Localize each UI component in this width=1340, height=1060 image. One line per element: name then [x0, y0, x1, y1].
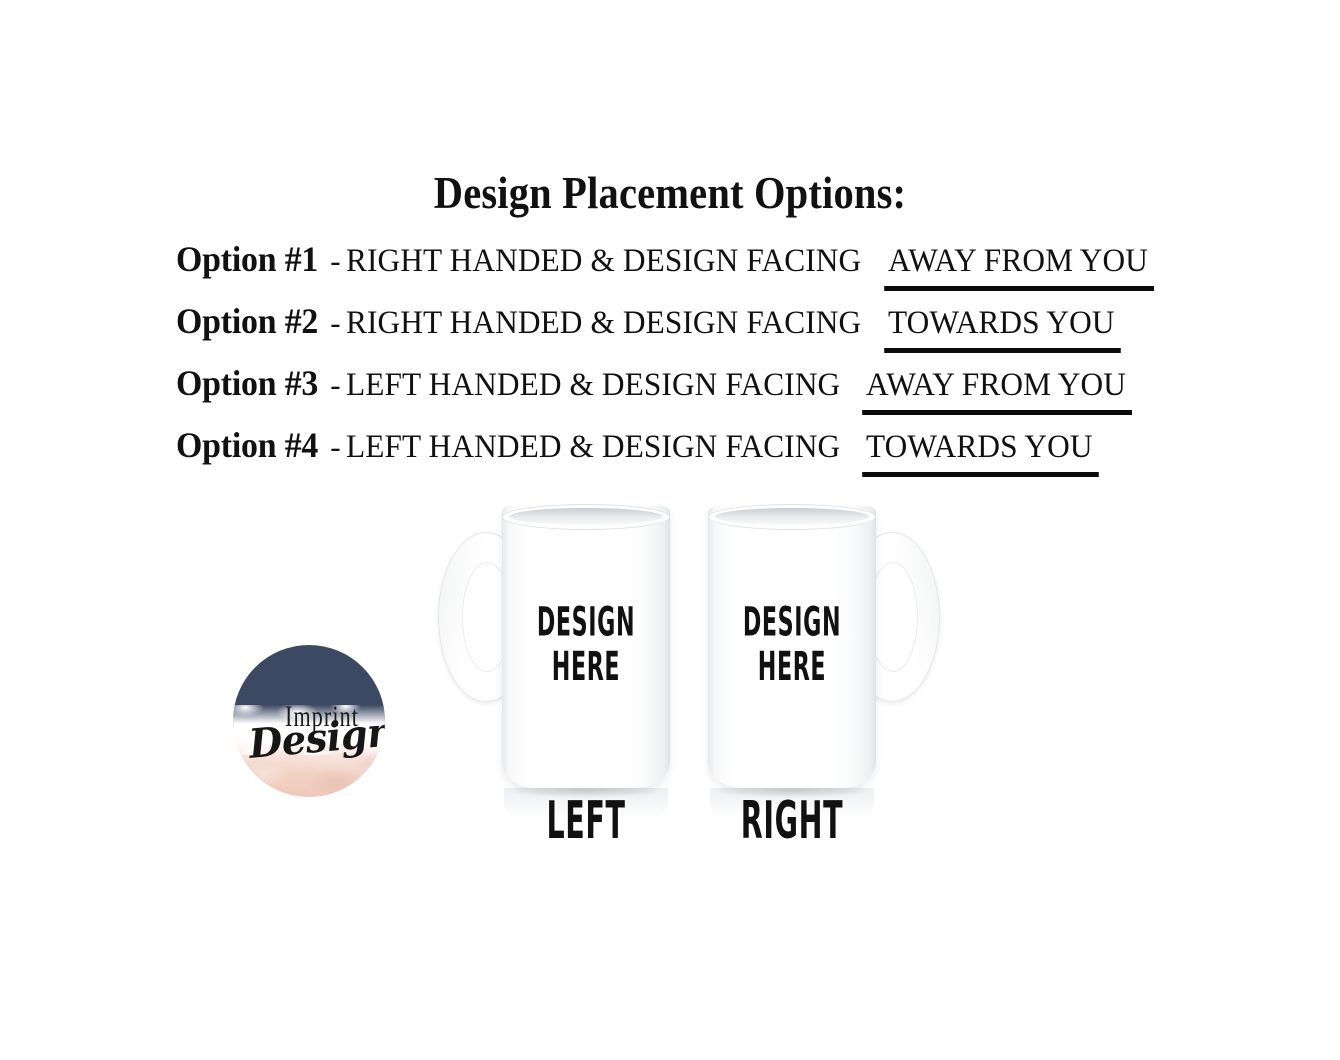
option-2-description: RIGHT HANDED & DESIGN FACING [346, 305, 861, 342]
option-1-emphasis: AWAY FROM YOU [888, 243, 1148, 282]
option-row-4: Option #4-LEFT HANDED & DESIGN FACINGTOW… [176, 424, 1176, 486]
option-1-label: Option #1 [176, 238, 318, 280]
option-1-description: RIGHT HANDED & DESIGN FACING [346, 243, 861, 280]
option-4-emphasis: TOWARDS YOU [866, 429, 1093, 468]
option-row-2: Option #2-RIGHT HANDED & DESIGN FACINGTO… [176, 300, 1176, 362]
option-2-emphasis: TOWARDS YOU [888, 305, 1115, 344]
right-mug-design-line-2: HERE [742, 644, 843, 688]
option-4-description: LEFT HANDED & DESIGN FACING [346, 429, 840, 466]
left-mug-design-text: DESIGN HERE [536, 600, 637, 689]
heading-block: Design Placement Options: [0, 168, 1340, 218]
option-3-emphasis: AWAY FROM YOU [866, 367, 1126, 406]
left-mug: DESIGN HERE LEFT [430, 496, 680, 826]
option-1-dash: - [327, 243, 345, 278]
left-mug-design-line-1: DESIGN [536, 600, 637, 644]
imprint-designs-logo: Imprint Designs [233, 645, 385, 797]
left-mug-design-line-2: HERE [536, 644, 637, 688]
option-2-label: Option #2 [176, 300, 318, 342]
mug-mockup-stage: DESIGN HERE LEFT DESIGN HERE RIGHT [420, 496, 940, 876]
option-row-3: Option #3-LEFT HANDED & DESIGN FACINGAWA… [176, 362, 1176, 424]
option-3-dash: - [327, 367, 345, 402]
right-mug-caption: RIGHT [730, 792, 854, 848]
logo-wordmark: Imprint Designs [233, 645, 385, 797]
option-4-label: Option #4 [176, 424, 318, 466]
right-mug: DESIGN HERE RIGHT [698, 496, 948, 826]
option-3-description: LEFT HANDED & DESIGN FACING [346, 367, 840, 404]
option-3-label: Option #3 [176, 362, 318, 404]
left-mug-rim [502, 504, 670, 530]
page-title: Design Placement Options: [67, 168, 1273, 218]
right-mug-design-text: DESIGN HERE [742, 600, 843, 689]
option-row-1: Option #1-RIGHT HANDED & DESIGN FACINGAW… [176, 238, 1176, 300]
right-mug-design-line-1: DESIGN [742, 600, 843, 644]
options-list: Option #1-RIGHT HANDED & DESIGN FACINGAW… [176, 238, 1176, 486]
page-canvas: Design Placement Options: Option #1-RIGH… [0, 0, 1340, 1060]
option-2-dash: - [327, 305, 345, 340]
logo-script-text: Designs [247, 706, 385, 767]
option-4-dash: - [327, 429, 345, 464]
left-mug-caption: LEFT [524, 792, 648, 848]
right-mug-rim [708, 504, 876, 530]
